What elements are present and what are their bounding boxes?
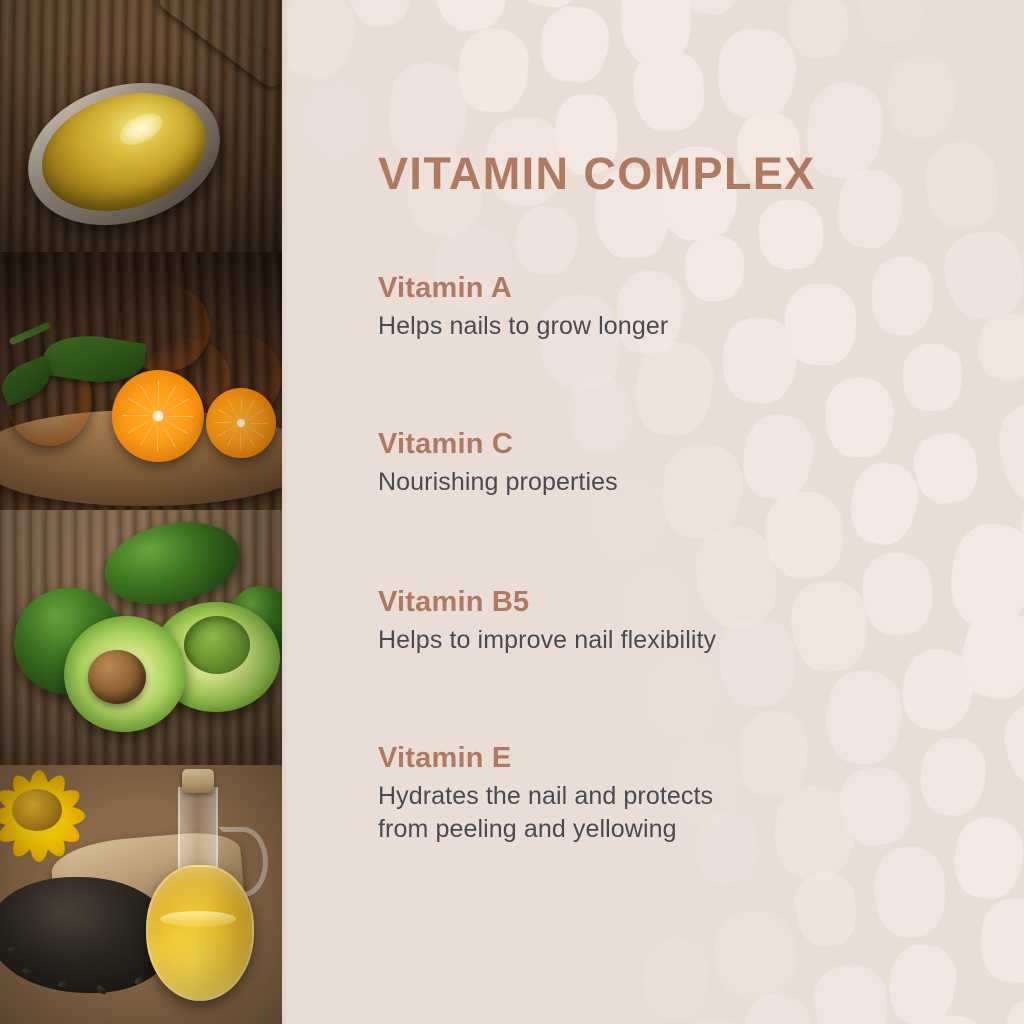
cruet-cork (182, 769, 214, 793)
orange-half (206, 388, 276, 458)
vitamin-name: Vitamin A (378, 272, 978, 304)
photo-column (0, 0, 282, 1024)
sunflower-oil-photo (0, 765, 282, 1024)
vitamin-name: Vitamin E (378, 742, 978, 774)
column-divider (282, 0, 288, 1024)
vitamin-name: Vitamin C (378, 428, 978, 460)
avocado-photo (0, 510, 282, 765)
vitamin-description: Nourishing properties (378, 466, 978, 499)
sunflower-center (12, 789, 62, 831)
page-title: VITAMIN COMPLEX (378, 148, 816, 200)
vitamin-block-c: Vitamin C Nourishing properties (378, 428, 978, 499)
cruet-neck (178, 787, 218, 873)
vitamin-description: Helps to improve nail flexibility (378, 624, 978, 657)
vitamin-description-line-1: Hydrates the nail and protects (378, 782, 713, 810)
orange-half (112, 370, 204, 462)
text-panel: VITAMIN COMPLEX Vitamin A Helps nails to… (378, 0, 998, 1024)
vitamin-block-a: Vitamin A Helps nails to grow longer (378, 272, 978, 343)
cruet-body (146, 865, 254, 1001)
nail-shape-icon (282, 0, 362, 85)
vitamin-name: Vitamin B5 (378, 586, 978, 618)
spoon-of-oil-photo (0, 0, 282, 252)
oranges-photo (0, 252, 282, 510)
nail-shape-icon (1017, 489, 1024, 575)
vitamin-description-line-2: from peeling and yellowing (378, 815, 677, 843)
vitamin-block-e: Vitamin E Hydrates the nail and protects… (378, 742, 978, 845)
vitamin-description: Hydrates the nail and protectsfrom peeli… (378, 780, 978, 845)
oil-surface-highlight (160, 911, 236, 927)
avocado-pit (88, 650, 146, 704)
vitamin-block-b5: Vitamin B5 Helps to improve nail flexibi… (378, 586, 978, 657)
nail-shape-icon (300, 78, 374, 161)
nail-shape-icon (998, 694, 1024, 794)
infographic-page: VITAMIN COMPLEX Vitamin A Helps nails to… (0, 0, 1024, 1024)
vitamin-description: Helps nails to grow longer (378, 310, 978, 343)
nail-shape-icon (1002, 994, 1024, 1024)
avocado-cavity (184, 616, 250, 674)
